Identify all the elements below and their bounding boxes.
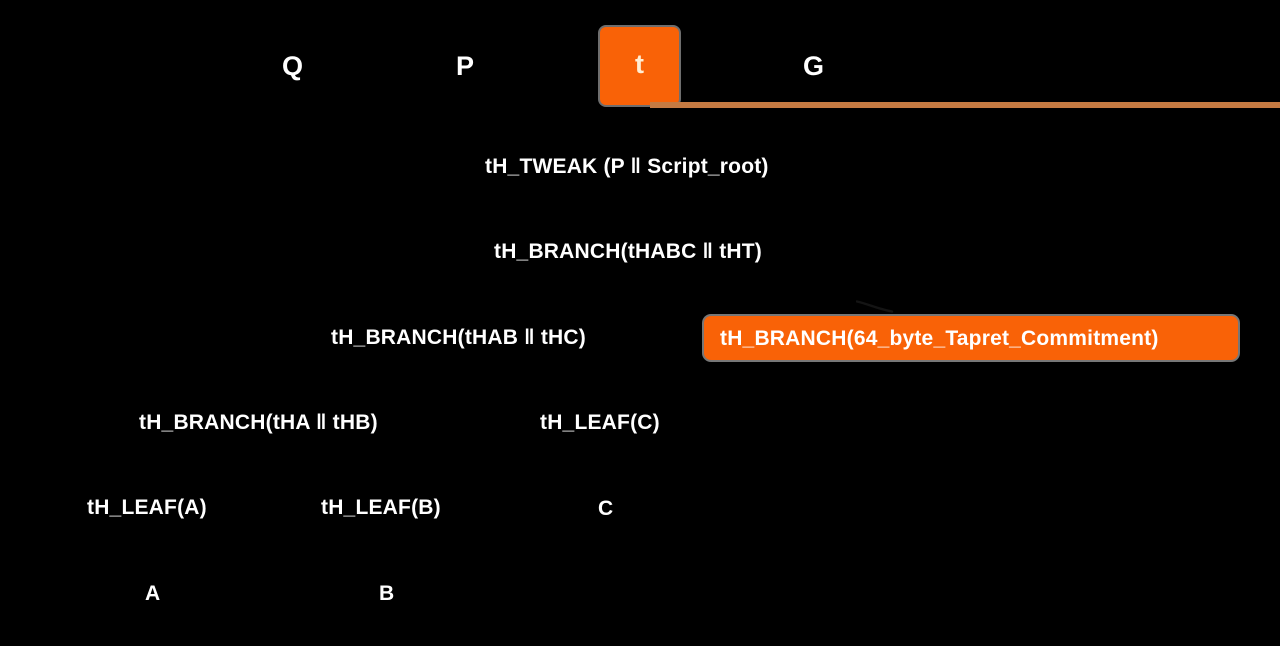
- tweaked-key-highlight-box[interactable]: t: [600, 27, 679, 105]
- tree-node-branch-abc-t: tH_BRANCH(tHABC ‖ tHT): [494, 241, 762, 262]
- cursor-pointer-mark: [856, 300, 894, 314]
- tree-node-leaf-b: tH_LEAF(B): [321, 497, 441, 518]
- key-label-g: G: [803, 53, 825, 80]
- tree-node-branch-ab-c: tH_BRANCH(tHAB ‖ tHC): [331, 327, 586, 348]
- tree-node-leaf-a: tH_LEAF(A): [87, 497, 207, 518]
- tree-node-tapret-commitment-highlight[interactable]: tH_BRANCH(64_byte_Tapret_Commitment): [704, 316, 1238, 360]
- tree-node-leaf-c: tH_LEAF(C): [540, 412, 660, 433]
- tree-node-tapret-commitment-label: tH_BRANCH(64_byte_Tapret_Commitment): [720, 328, 1159, 349]
- key-label-p: P: [456, 53, 475, 80]
- tree-node-script-b: B: [379, 583, 394, 604]
- diagram-canvas: Q P t G tH_TWEAK (P ‖ Script_root) tH_BR…: [0, 0, 1280, 646]
- key-label-q: Q: [282, 53, 304, 80]
- tree-node-tweak: tH_TWEAK (P ‖ Script_root): [485, 156, 769, 177]
- tree-node-script-c: C: [598, 498, 613, 519]
- horizontal-divider-rule: [650, 102, 1280, 108]
- tree-node-script-a: A: [145, 583, 160, 604]
- key-label-t: t: [600, 51, 679, 78]
- tree-node-branch-a-b: tH_BRANCH(tHA ‖ tHB): [139, 412, 378, 433]
